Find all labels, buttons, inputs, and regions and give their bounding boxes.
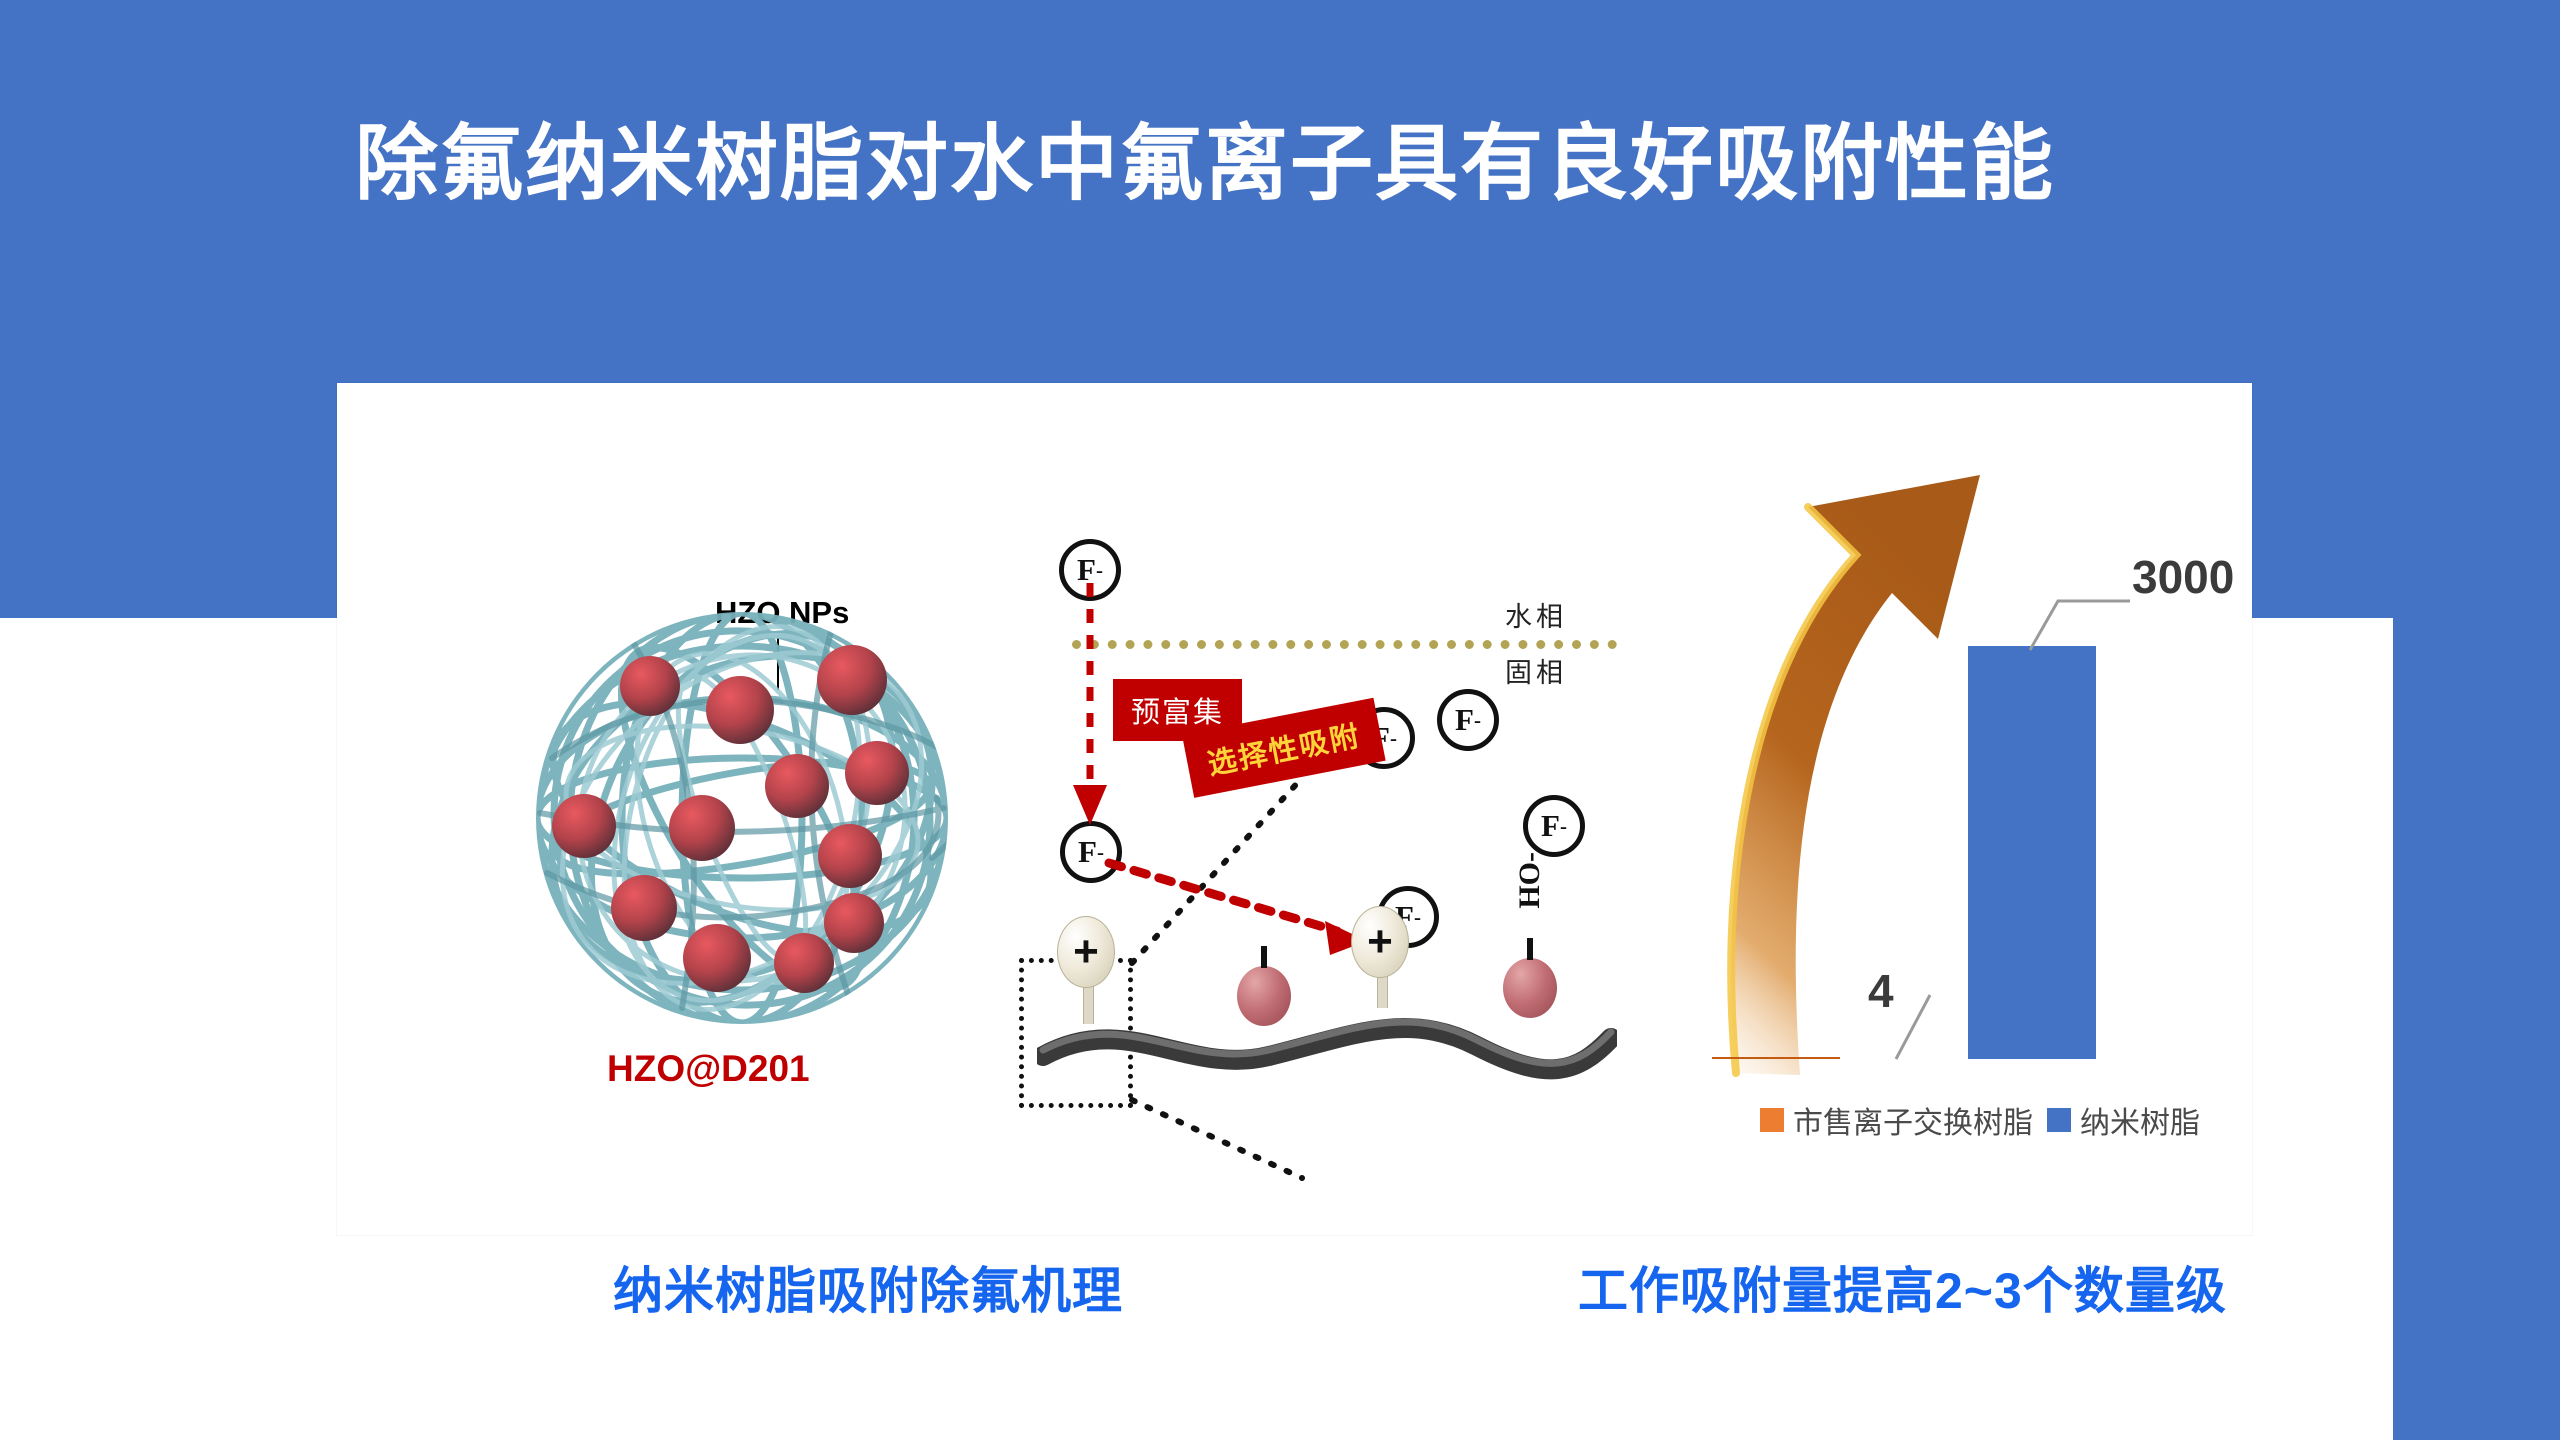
bond-tick [1261,946,1267,968]
quaternary-ammonium-group: + [1057,916,1115,988]
plus-sign-text: + [1073,934,1099,969]
caption-capacity: 工作吸附量提高2~3个数量级 [1578,1251,2227,1323]
legend-item-commercial-resin: 市售离子交换树脂 [1760,1098,2033,1142]
bar-commercial-resin [1712,1057,1840,1059]
chart-legend: 市售离子交换树脂 纳米树脂 [1760,1098,2200,1142]
quaternary-ammonium-group: + [1351,906,1409,978]
legend-swatch-orange-icon [1760,1108,1784,1132]
growth-arrow-icon [1680,383,2010,1083]
slide-title: 除氟纳米树脂对水中氟离子具有良好吸附性能 [0,118,2410,209]
adsorption-site-ball [1503,958,1557,1018]
bar-nano-resin [1968,646,2096,1059]
bond-tick [1527,938,1533,960]
resin-name-label: HZO@D201 [607,1048,810,1090]
value-label-commercial-resin: 4 [1868,964,1894,1018]
hydroxide-label: HO- [1513,852,1547,909]
slide-root: 除氟纳米树脂对水中氟离子具有良好吸附性能 HZO NPs [0,0,2560,1440]
adsorption-site-ball [1237,966,1291,1026]
polymer-mesh-icon [532,608,952,1028]
plus-sign-text: + [1367,924,1393,959]
adsorption-capacity-chart: 3000 4 市售离子交换树脂 纳米树脂 [1700,383,2252,1235]
legend-item-nano-resin: 纳米树脂 [2047,1098,2200,1142]
legend-label-commercial-resin: 市售离子交换树脂 [1793,1098,2033,1142]
legend-swatch-blue-icon [2047,1108,2071,1132]
value-label-nano-resin: 3000 [2132,550,2234,604]
resin-bead-illustration [532,608,952,1028]
mechanism-diagram: HZO NPs [337,383,1637,1235]
caption-mechanism: 纳米树脂吸附除氟机理 [613,1251,1123,1323]
mechanism-arrows [1037,563,1637,983]
legend-label-nano-resin: 纳米树脂 [2080,1098,2200,1142]
right-edge-accent-band [2393,0,2560,1440]
